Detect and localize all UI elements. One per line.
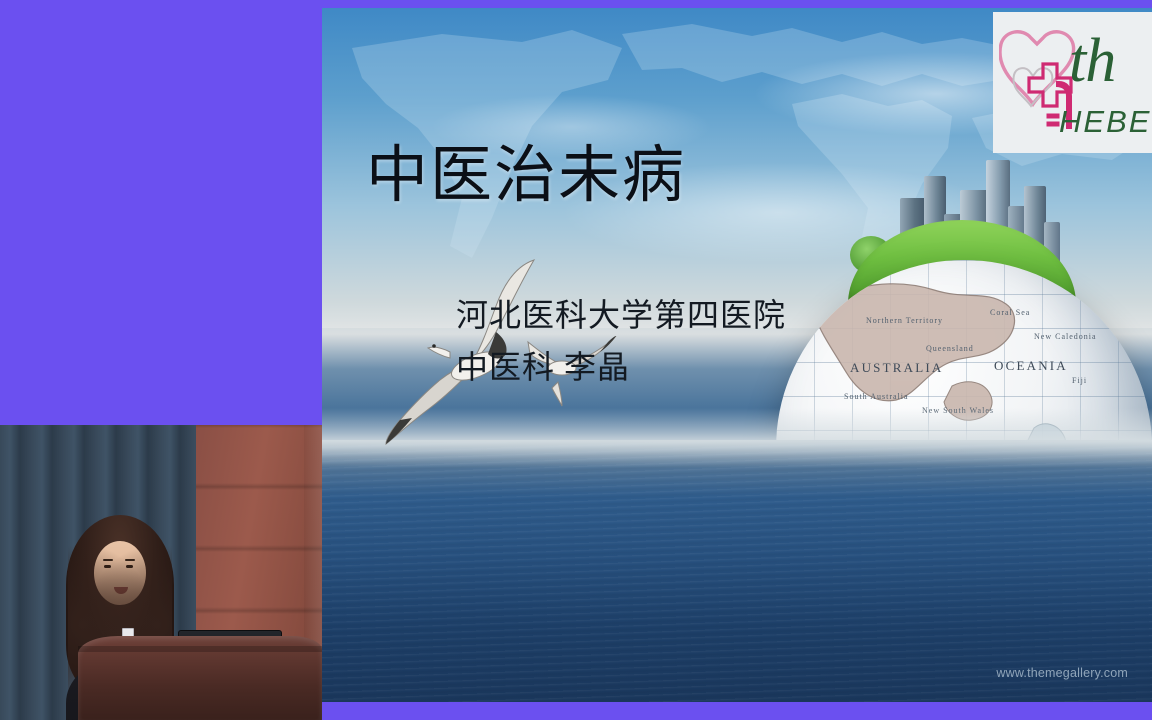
slide-subtitle: 河北医科大学第四医院 中医科 李晶 — [456, 290, 786, 394]
map-label-sub-7: Fiji — [1072, 376, 1087, 385]
presenter-video-panel[interactable]: Lenovo — [0, 425, 322, 720]
logo-ordinal: th — [1069, 26, 1115, 97]
map-label-oceania: OCEANIA — [994, 358, 1068, 374]
slide-subtitle-line2: 中医科 李晶 — [456, 342, 786, 394]
map-label-australia: AUSTRALIA — [850, 360, 943, 376]
slide-subtitle-line1: 河北医科大学第四医院 — [456, 290, 786, 342]
map-label-sub-2: South Australia — [844, 392, 909, 401]
themegallery-watermark: www.themegallery.com — [996, 666, 1128, 680]
logo-region: HEBEI — [1059, 104, 1152, 140]
screen-backdrop: Lenovo — [0, 0, 1152, 720]
map-label-sub-6: New Caledonia — [1034, 332, 1097, 341]
map-label-sub-0: Northern Territory — [866, 316, 943, 325]
conference-logo: th HEBEI — [993, 12, 1152, 153]
lectern — [78, 636, 322, 720]
logo-suffix: th — [1069, 27, 1115, 95]
map-label-sub-4: Coral Sea — [990, 308, 1030, 317]
map-label-sub-1: Queensland — [926, 344, 974, 353]
presentation-slide[interactable]: AUSTRALIA OCEANIA NEW ZEALAND Northern T… — [322, 8, 1152, 702]
slide-title: 中医治未病 — [366, 144, 686, 209]
ocean — [322, 440, 1152, 702]
